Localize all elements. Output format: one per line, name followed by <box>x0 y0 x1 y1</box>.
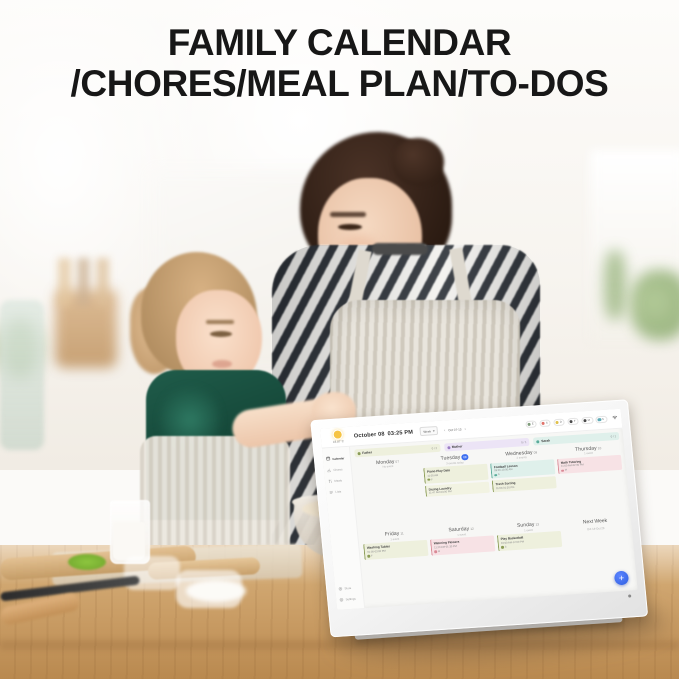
headline-line-2: /CHORES/MEAL PLAN/TO-DOS <box>0 63 679 104</box>
sidebar-label-chores: Chores <box>333 467 342 472</box>
glass-jar <box>0 300 44 450</box>
avatar-chip[interactable]: D <box>553 419 565 427</box>
member-avatar-row: E S D F M S <box>525 415 618 428</box>
avatar-dot <box>556 421 559 424</box>
day-column-thursday[interactable]: Thursday10 1 event Math Tutoring 11:00 A… <box>556 444 627 519</box>
avatar-chip[interactable]: S <box>539 419 551 427</box>
wifi-icon[interactable] <box>612 415 618 422</box>
sidebar-label-lists: Lists <box>335 490 341 494</box>
headline-line-1: FAMILY CALENDAR <box>0 22 679 63</box>
next-week-panel[interactable]: Next Week Oct 14-Oct 20 + <box>563 516 634 591</box>
assignee-dot <box>434 550 437 553</box>
assignee-dot <box>501 546 504 549</box>
sidebar-item-settings[interactable]: Settings <box>336 593 364 606</box>
event-card[interactable]: Football Lesson 09:00-10:00 AM S <box>490 459 555 479</box>
day-events: Washing Tables 01:00-03:00 PM F <box>363 540 432 604</box>
day-events: Watering Flowers 11:20 AM-01:30 PM M <box>430 536 499 600</box>
avatar-initial: F <box>574 420 576 423</box>
member-name: Mother <box>452 445 463 450</box>
assignee-initial: M <box>438 550 440 553</box>
member-task-count: 0 / 1 <box>521 440 527 444</box>
avatar-dot <box>570 420 573 423</box>
next-week-button[interactable]: › <box>464 427 466 431</box>
day-number: 07 <box>395 459 399 463</box>
girl-brow <box>206 320 234 324</box>
day-number: 11 <box>400 532 404 536</box>
assignee-dot <box>561 469 564 472</box>
avatar-initial: S <box>546 422 548 425</box>
avatar-initial: S <box>602 418 604 421</box>
member-dot <box>536 440 539 443</box>
avatar-chip[interactable]: M <box>581 417 594 425</box>
day-column-wednesday[interactable]: Wednesday09 2 events Football Lesson 09:… <box>489 448 560 523</box>
assignee-initial: M <box>565 469 567 472</box>
member-name: Sarah <box>541 439 550 444</box>
member-task-count: 0 / 1 <box>610 434 616 438</box>
green-cookie-cutter <box>68 554 106 570</box>
day-events: Piano Play Date 11:00 AM F Drying Laundr… <box>423 464 492 527</box>
assignee-dot <box>428 478 431 481</box>
avatar-chip[interactable]: S <box>595 416 607 424</box>
woman-brow <box>330 212 366 217</box>
event-card[interactable]: Math Tutoring 11:00 AM-02:00 PM M <box>557 455 622 475</box>
view-selector-label: Week <box>423 429 431 433</box>
date-time-display: October 0803:25 PM <box>354 429 414 439</box>
broom-icon <box>327 468 332 473</box>
assignee-initial: S <box>505 545 507 548</box>
sun-icon <box>333 430 342 438</box>
gear-icon <box>339 598 344 603</box>
assignee-dot <box>494 474 497 477</box>
temperature-label: 18.87°C <box>333 439 345 444</box>
avatar-dot <box>598 418 601 421</box>
event-card[interactable]: Watering Flowers 11:20 AM-01:30 PM M <box>430 536 495 556</box>
avatar-chip[interactable]: E <box>525 420 537 428</box>
member-dot <box>447 446 450 449</box>
day-events: Math Tutoring 11:00 AM-02:00 PM M <box>557 455 626 519</box>
day-events <box>356 468 425 532</box>
assignee-initial: F <box>371 554 373 557</box>
prev-week-button[interactable]: ‹ <box>444 428 446 432</box>
calendar-icon <box>326 456 331 461</box>
day-number: 09 <box>533 450 537 454</box>
view-selector-dropdown[interactable]: Week <box>420 426 439 436</box>
device-screen: 18.87°C October 0803:25 PM Week ‹ Oct 07… <box>320 409 638 610</box>
app-body: Calendar Chores Meals <box>322 429 638 610</box>
day-number: 13 <box>535 523 539 527</box>
marketing-headline: FAMILY CALENDAR /CHORES/MEAL PLAN/TO-DOS <box>0 22 679 105</box>
assignee-initial: S <box>498 473 500 476</box>
avatar-initial: M <box>588 419 591 422</box>
day-events: Football Lesson 09:00-10:00 AM S Trash S… <box>490 459 559 523</box>
glass-cutter-two <box>176 570 242 608</box>
milk-liquid <box>113 522 145 560</box>
week-row-two: Friday11 1 event Washing Tables 01:00-03… <box>362 516 633 604</box>
woman-eye <box>338 224 362 230</box>
avatar-chip[interactable]: F <box>567 418 579 426</box>
assignee-dot <box>368 555 371 558</box>
plant-right <box>630 270 679 340</box>
smart-display-device: 18.87°C October 0803:25 PM Week ‹ Oct 07… <box>310 398 672 664</box>
member-name: Father <box>362 451 372 456</box>
day-number: 10 <box>597 446 601 450</box>
assignee-initial: F <box>431 478 433 481</box>
event-card[interactable]: Play Basketball 10:00 AM-12:00 PM S <box>497 531 562 551</box>
day-number-today: 08 <box>461 454 468 461</box>
status-led-icon <box>628 594 631 597</box>
girl-eye <box>210 331 232 337</box>
week-grid: Monday07 No event Tuesday08 3 events tod… <box>355 444 633 604</box>
day-number: 12 <box>470 527 474 531</box>
woman-hair-bun <box>392 138 444 186</box>
apron-neck-strap <box>372 243 428 255</box>
girl-apron <box>140 436 290 548</box>
event-card[interactable]: Trash Sorting 01:00-01:30 PM <box>492 476 557 492</box>
day-name: Tuesday <box>440 454 460 461</box>
day-column-friday[interactable]: Friday11 1 event Washing Tables 01:00-03… <box>362 529 433 604</box>
current-date: October 08 <box>354 431 385 439</box>
day-column-sunday[interactable]: Sunday13 1 event Play Basketball 10:00 A… <box>496 520 567 595</box>
day-column-monday[interactable]: Monday07 No event <box>355 457 426 532</box>
avatar-dot <box>583 419 586 422</box>
next-week-column[interactable]: Next Week Oct 14-Oct 20 + <box>563 516 634 591</box>
avatar-initial: D <box>560 421 562 424</box>
next-week-title: Next Week <box>583 518 608 526</box>
weather-widget[interactable]: 18.87°C <box>324 430 351 445</box>
add-event-button[interactable]: + <box>614 571 629 586</box>
avatar-dot <box>528 423 531 426</box>
next-week-range: Oct 14-Oct 20 <box>587 526 605 531</box>
sidebar-label-meals: Meals <box>334 478 342 482</box>
girl-lips <box>212 360 232 368</box>
day-column-saturday[interactable]: Saturday12 1 event Watering Flowers 11:2… <box>429 525 500 600</box>
member-task-count: 0 / 2 <box>431 446 437 450</box>
event-card[interactable]: Washing Tables 01:00-03:00 PM F <box>363 540 428 560</box>
week-range-label: Oct 07-13 <box>448 427 462 432</box>
chevron-down-icon <box>432 430 434 432</box>
week-navigator: ‹ Oct 07-13 › <box>444 427 466 432</box>
avatar-initial: E <box>532 423 534 426</box>
member-dot <box>357 452 360 455</box>
event-card[interactable]: Piano Play Date 11:00 AM F <box>423 464 488 484</box>
sidebar-label-store: Store <box>344 586 351 590</box>
meal-icon <box>328 479 333 484</box>
avatar-dot <box>542 422 545 425</box>
current-time: 03:25 PM <box>387 429 413 437</box>
list-icon <box>329 490 334 495</box>
device-bezel: 18.87°C October 0803:25 PM Week ‹ Oct 07… <box>310 399 648 637</box>
day-column-tuesday[interactable]: Tuesday08 3 events today Piano Play Date… <box>422 453 493 528</box>
sidebar-label-calendar: Calendar <box>332 456 344 461</box>
calendar-content: Father 0 / 2 Mother 0 / 1 Sarah 0 / 1 <box>350 429 638 608</box>
day-events: Play Basketball 10:00 AM-12:00 PM S <box>497 531 566 595</box>
store-icon <box>338 587 343 592</box>
plant-stem-right <box>604 250 626 320</box>
wooden-utensils <box>58 258 116 306</box>
event-card[interactable]: Drying Laundry 11:47 AM-03:00 PM <box>425 481 490 497</box>
sidebar-label-settings: Settings <box>345 597 355 602</box>
